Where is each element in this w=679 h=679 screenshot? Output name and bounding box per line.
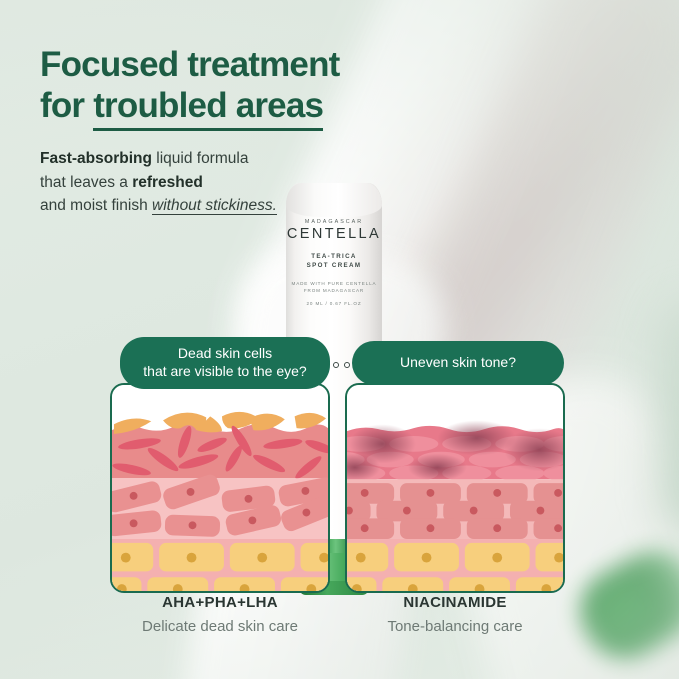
connector-dots	[333, 362, 350, 368]
subtext-bold-1: Fast-absorbing	[40, 150, 152, 167]
headline-line-2-underlined: troubled areas	[93, 86, 323, 131]
headline-line-2-prefix: for	[40, 86, 93, 125]
caption-aha-pha-lha: AHA+PHA+LHA Delicate dead skin care	[110, 594, 330, 635]
label-description-line2: FROM MADAGASCAR	[304, 288, 364, 293]
caption-right-subtitle: Tone-balancing care	[345, 618, 565, 635]
caption-left-subtitle: Delicate dead skin care	[110, 618, 330, 635]
label-brand-top: MADAGASCAR	[286, 219, 382, 225]
badge-uneven-tone-line-1: Uneven skin tone?	[400, 354, 516, 372]
badge-dead-skin: Dead skin cells that are visible to the …	[120, 337, 330, 389]
label-description-line1: MADE WITH PURE CENTELLA	[292, 281, 377, 286]
label-volume: 20 ML / 0.67 FL.OZ	[286, 301, 382, 306]
tube-label: MADAGASCAR CENTELLA TEA-TRICA SPOT CREAM…	[286, 219, 382, 306]
subtext-part-5: and moist finish	[40, 197, 152, 214]
card-uneven-tone-diagram	[345, 383, 565, 593]
badge-uneven-tone: Uneven skin tone?	[352, 341, 564, 385]
headline-line-1: Focused treatment	[40, 45, 340, 84]
caption-niacinamide: NIACINAMIDE Tone-balancing care	[345, 594, 565, 635]
label-brand-name: CENTELLA	[286, 226, 382, 242]
connector-dot-1	[333, 362, 339, 368]
uneven-tone-skin-cross-section	[347, 385, 563, 591]
label-product-line: TEA-TRICA	[286, 253, 382, 260]
label-product-type: SPOT CREAM	[286, 262, 382, 269]
caption-left-title: AHA+PHA+LHA	[110, 594, 330, 611]
connector-dot-2	[344, 362, 350, 368]
badge-dead-skin-line-2: that are visible to the eye?	[143, 363, 306, 379]
badge-dead-skin-line-1: Dead skin cells	[178, 345, 272, 361]
headline: Focused treatment for troubled areas	[40, 45, 470, 127]
subtext-italic-underline: without stickiness.	[152, 197, 277, 215]
card-dead-skin-diagram	[110, 383, 330, 593]
marketing-image: MADAGASCAR CENTELLA TEA-TRICA SPOT CREAM…	[0, 0, 679, 679]
subtext: Fast-absorbing liquid formula that leave…	[40, 147, 370, 218]
subtext-bold-2: refreshed	[132, 174, 203, 191]
dead-skin-skin-cross-section	[112, 385, 328, 591]
subtext-part-3: that leaves a	[40, 174, 132, 191]
subtext-part-2: liquid formula	[152, 150, 249, 167]
caption-right-title: NIACINAMIDE	[345, 594, 565, 611]
label-description: MADE WITH PURE CENTELLA FROM MADAGASCAR	[286, 281, 382, 295]
